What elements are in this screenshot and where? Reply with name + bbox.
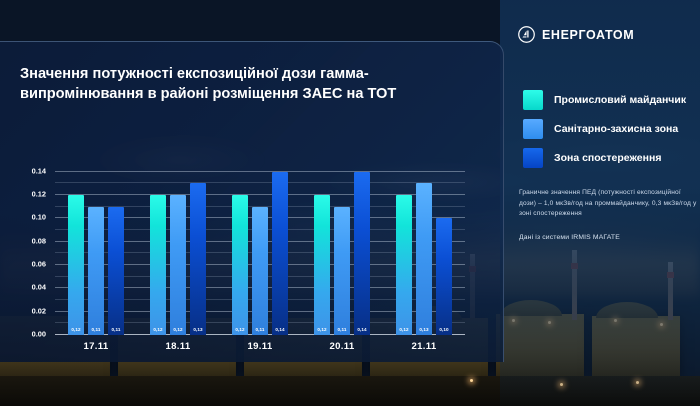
y-axis-tick-label: 0.06: [32, 260, 46, 269]
brand-logo: ЕНЕРГОАТОМ: [518, 26, 634, 43]
bar[interactable]: 0,11: [108, 207, 124, 335]
note-data-source: Дані із системи IRMIS МАГАТЕ: [519, 234, 697, 241]
bar-group: 0,120,110,14: [219, 160, 301, 335]
footnotes: Граничне значення ПЕД (потужності експоз…: [519, 188, 697, 241]
bar[interactable]: 0,12: [232, 195, 248, 335]
bar-groups: 0,120,110,110,120,120,130,120,110,140,12…: [55, 160, 465, 335]
bar-value-label: 0,12: [71, 327, 80, 332]
bar-value-label: 0,11: [255, 327, 264, 332]
page-title: Значення потужності експозиційної дози г…: [20, 64, 420, 104]
bar-group: 0,120,110,14: [301, 160, 383, 335]
legend-item-sanitary-zone: Санітарно-захисна зона: [523, 119, 686, 139]
bar-group: 0,120,110,11: [55, 160, 137, 335]
bar-value-label: 0,11: [337, 327, 346, 332]
x-axis-labels: 17.1118.1119.1120.1121.11: [55, 341, 465, 352]
legend-swatch-icon: [523, 148, 543, 168]
bar[interactable]: 0,13: [416, 183, 432, 335]
infographic-slide: ЕНЕРГОАТОМ Промисловий майданчик Санітар…: [0, 0, 700, 406]
chart-legend: Промисловий майданчик Санітарно-захисна …: [523, 90, 686, 168]
bar[interactable]: 0,10: [436, 218, 452, 335]
bar[interactable]: 0,12: [68, 195, 84, 335]
bar-value-label: 0,11: [91, 327, 100, 332]
legend-label: Промисловий майданчик: [554, 94, 686, 106]
bar-value-label: 0,13: [419, 327, 428, 332]
bar[interactable]: 0,12: [150, 195, 166, 335]
bars: 0,120,130,10: [383, 160, 465, 335]
bar-value-label: 0,12: [399, 327, 408, 332]
legend-label: Санітарно-захисна зона: [554, 123, 678, 135]
bar[interactable]: 0,14: [272, 172, 288, 335]
bar-value-label: 0,12: [317, 327, 326, 332]
legend-swatch-icon: [523, 90, 543, 110]
bar-value-label: 0,12: [153, 327, 162, 332]
bar-value-label: 0,14: [357, 327, 366, 332]
info-sidebar: ЕНЕРГОАТОМ Промисловий майданчик Санітар…: [500, 0, 700, 406]
bar-value-label: 0,12: [173, 327, 182, 332]
bar[interactable]: 0,11: [252, 207, 268, 335]
y-axis-tick-label: 0.08: [32, 236, 46, 245]
legend-label: Зона спостереження: [554, 152, 661, 164]
y-axis-tick-label: 0.00: [32, 330, 46, 339]
plot-area: 0.000.020.040.060.080.100.120.14 0,120,1…: [55, 160, 465, 335]
y-axis-tick-label: 0.14: [32, 166, 46, 175]
bar-value-label: 0,12: [235, 327, 244, 332]
y-axis-tick-label: 0.02: [32, 306, 46, 315]
x-axis-label: 18.11: [137, 341, 219, 352]
y-axis-tick-label: 0.12: [32, 190, 46, 199]
x-axis-label: 19.11: [219, 341, 301, 352]
legend-item-industrial-site: Промисловий майданчик: [523, 90, 686, 110]
bar[interactable]: 0,14: [354, 172, 370, 335]
x-axis-label: 20.11: [301, 341, 383, 352]
bar-value-label: 0,11: [111, 327, 120, 332]
bar[interactable]: 0,11: [88, 207, 104, 335]
note-dose-limit: Граничне значення ПЕД (потужності експоз…: [519, 188, 697, 220]
bar-value-label: 0,14: [275, 327, 284, 332]
bar[interactable]: 0,12: [170, 195, 186, 335]
brand-name: ЕНЕРГОАТОМ: [542, 28, 634, 42]
bar-group: 0,120,130,10: [383, 160, 465, 335]
bar[interactable]: 0,13: [190, 183, 206, 335]
bar[interactable]: 0,11: [334, 207, 350, 335]
x-axis-label: 17.11: [55, 341, 137, 352]
y-axis-tick-label: 0.10: [32, 213, 46, 222]
legend-swatch-icon: [523, 119, 543, 139]
x-axis-label: 21.11: [383, 341, 465, 352]
bar[interactable]: 0,12: [314, 195, 330, 335]
bars: 0,120,120,13: [137, 160, 219, 335]
bars: 0,120,110,14: [219, 160, 301, 335]
bars: 0,120,110,11: [55, 160, 137, 335]
bar-value-label: 0,10: [439, 327, 448, 332]
bars: 0,120,110,14: [301, 160, 383, 335]
legend-item-observation-zone: Зона спостереження: [523, 148, 686, 168]
bar-group: 0,120,120,13: [137, 160, 219, 335]
energoatom-logo-icon: [518, 26, 535, 43]
bar-value-label: 0,13: [193, 327, 202, 332]
bar[interactable]: 0,12: [396, 195, 412, 335]
y-axis-tick-label: 0.04: [32, 283, 46, 292]
